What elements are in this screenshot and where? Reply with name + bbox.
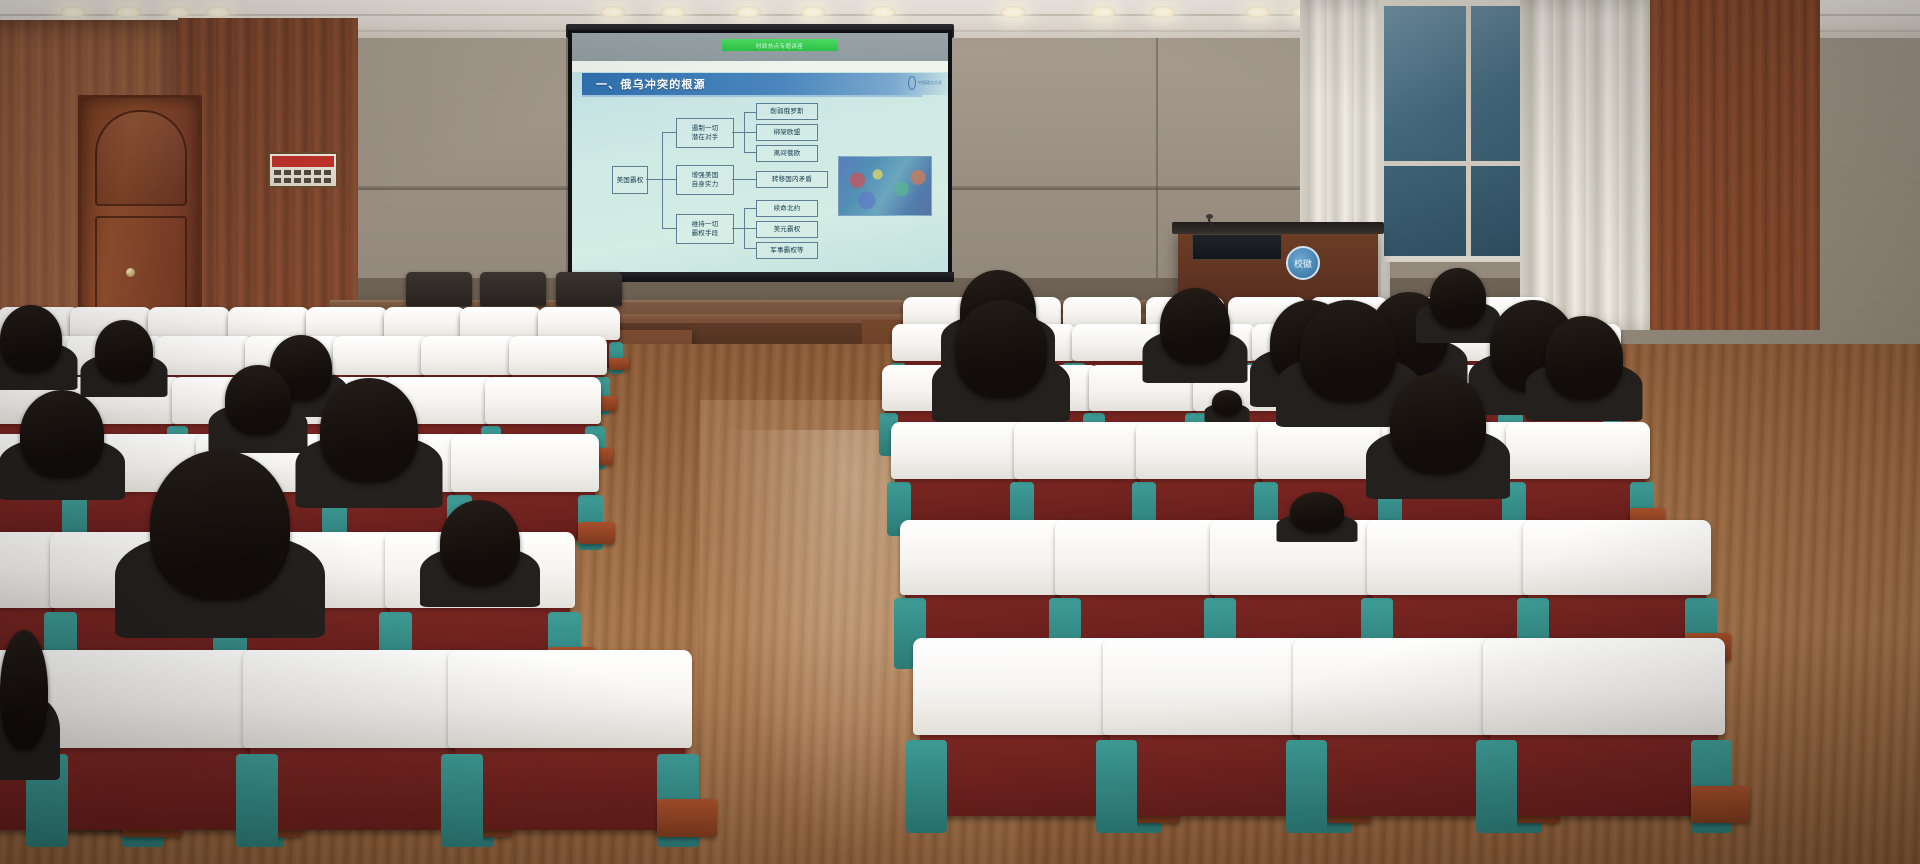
mindmap-branch-node: 遏制一切 潜在对手 — [676, 118, 734, 148]
auditorium-seat[interactable] — [1528, 528, 1706, 656]
mindmap-leaf-node: 绑架欧盟 — [756, 124, 818, 141]
slide-green-banner: 时政热点专题讲座 — [722, 39, 838, 51]
ceiling-downlight — [1000, 6, 1026, 18]
seat-side-panel — [441, 754, 482, 848]
audience-member — [1212, 390, 1242, 416]
audience-member — [1290, 492, 1344, 532]
mindmap-leaf-label: 削弱俄罗斯 — [770, 107, 804, 116]
mindmap-leaf-label: 美元霸权 — [774, 225, 801, 234]
seat-armrest — [657, 799, 717, 836]
person-head — [1290, 492, 1344, 532]
ceiling-downlight — [60, 6, 86, 18]
mindmap-root-label: 美国霸权 — [617, 176, 644, 185]
seat-side-panel — [236, 754, 277, 848]
person-head — [1160, 288, 1230, 364]
mindmap-leaf-label: 绑架欧盟 — [774, 128, 801, 137]
slide-world-map-image — [838, 156, 932, 216]
seat-white-cover — [1483, 638, 1725, 735]
audience-member — [150, 450, 290, 600]
person-head — [225, 365, 291, 435]
slide-title-bar: 一、俄乌冲突的根源 — [582, 73, 948, 95]
mindmap-branch-label-line2: 自身实力 — [692, 180, 719, 189]
seat-white-cover — [1506, 422, 1650, 479]
lectern-emblem-label: 校徽 — [1294, 257, 1312, 270]
microphone-icon — [1206, 214, 1213, 219]
ceiling-downlight — [115, 6, 141, 18]
slide-white-strip — [572, 61, 948, 72]
notice-red-header — [272, 156, 334, 167]
person-head — [955, 300, 1047, 398]
person-head — [0, 630, 48, 750]
ceiling-downlight — [870, 6, 896, 18]
ceiling-downlight — [165, 6, 191, 18]
auditorium-seat[interactable] — [455, 660, 685, 830]
ceiling-downlight — [800, 6, 826, 18]
seat-white-cover — [451, 434, 599, 492]
mindmap-leaf-node: 美元霸权 — [756, 221, 818, 238]
slide-banner-text: 时政热点专题讲座 — [756, 41, 803, 49]
person-head — [150, 450, 290, 600]
auditorium-seat[interactable] — [1490, 648, 1718, 816]
audience-member — [95, 320, 153, 382]
seat-armrest — [578, 522, 614, 544]
seat-white-cover — [33, 650, 277, 749]
ceiling-downlight — [1150, 6, 1176, 18]
audience-member — [0, 305, 62, 373]
seat-white-cover — [421, 336, 519, 375]
seat-white-cover — [448, 650, 692, 749]
mindmap-branch-label-line2: 潜在对手 — [692, 133, 719, 142]
person-head — [20, 390, 104, 478]
mindmap-branch-node: 增强美国 自身实力 — [676, 165, 734, 195]
audience-member — [0, 630, 48, 750]
mindmap-leaf-label: 转移国内矛盾 — [772, 175, 812, 184]
notice-text-lines — [274, 170, 332, 175]
mindmap-leaf-node: 削弱俄罗斯 — [756, 103, 818, 120]
mindmap-branch-label-line1: 维持一切 — [692, 220, 719, 229]
lecture-hall-photo: 时政热点专题讲座 一、俄乌冲突的根源 中国政法大学 美国霸权 — [0, 0, 1920, 864]
mindmap-root-node: 美国霸权 — [612, 166, 648, 194]
person-head — [320, 378, 418, 482]
mindmap-branch-label-line1: 遏制一切 — [692, 124, 719, 133]
mindmap-leaf-node: 离间俄欧 — [756, 145, 818, 162]
seat-white-cover — [333, 336, 431, 375]
audience-member — [1430, 268, 1486, 328]
mindmap-leaf-node: 转移国内矛盾 — [756, 171, 828, 188]
person-head — [95, 320, 153, 382]
person-head — [1300, 300, 1396, 402]
front-chair — [556, 272, 622, 306]
audience-member — [20, 390, 104, 478]
ceiling-downlight — [1090, 6, 1116, 18]
ceiling-downlight — [600, 6, 626, 18]
front-chair — [406, 272, 472, 306]
mindmap-leaf-label: 续命北约 — [774, 204, 801, 213]
seat-side-panel — [906, 740, 947, 832]
audience-member — [1390, 372, 1486, 474]
university-emblem-icon: 校徽 — [1286, 246, 1320, 280]
mindmap-leaf-label: 军事霸权等 — [770, 246, 804, 255]
person-head — [1430, 268, 1486, 328]
audience-member — [225, 365, 291, 435]
person-head — [1390, 372, 1486, 474]
ceiling-downlight — [1245, 6, 1271, 18]
slide-top-strip: 时政热点专题讲座 — [572, 33, 948, 61]
mindmap-branch-label-line1: 增强美国 — [692, 171, 719, 180]
notice-text-lines — [274, 178, 332, 183]
lectern-control-screen[interactable] — [1192, 234, 1282, 260]
seat-white-cover — [509, 336, 607, 375]
projection-screen: 时政热点专题讲座 一、俄乌冲突的根源 中国政法大学 美国霸权 — [572, 33, 948, 273]
seat-side-panel — [1096, 740, 1137, 832]
university-logo: 中国政法大学 — [908, 76, 942, 90]
door-knob[interactable] — [126, 268, 135, 277]
seat-armrest — [1691, 786, 1750, 823]
mindmap-branch-label-line2: 霸权手段 — [692, 229, 719, 238]
person-head — [1212, 390, 1242, 416]
logo-circle-icon — [908, 76, 916, 90]
auditorium-seat[interactable] — [1510, 428, 1646, 526]
curtain-right[interactable] — [1520, 0, 1650, 330]
slide-title: 一、俄乌冲突的根源 — [596, 76, 706, 92]
logo-text: 中国政法大学 — [918, 81, 942, 85]
person-head — [440, 500, 520, 586]
audience-member — [955, 300, 1047, 398]
ceiling-downlight — [205, 6, 231, 18]
audience-member — [1300, 300, 1396, 402]
audience-member — [440, 500, 520, 586]
person-head — [1545, 316, 1623, 400]
mindmap-leaf-node: 续命北约 — [756, 200, 818, 217]
seat-side-panel — [1476, 740, 1517, 832]
ceiling-downlight — [735, 6, 761, 18]
mindmap-leaf-label: 离间俄欧 — [774, 149, 801, 158]
seat-white-cover — [485, 377, 602, 423]
mindmap-leaf-node: 军事霸权等 — [756, 242, 818, 259]
door-arch-panel — [95, 110, 187, 206]
audience-member — [320, 378, 418, 482]
audience-member — [1160, 288, 1230, 364]
seat-armrest — [609, 358, 629, 371]
seat-side-panel — [1286, 740, 1327, 832]
seat-white-cover — [1523, 520, 1712, 594]
ceiling-downlight — [660, 6, 686, 18]
lectern-top-surface — [1172, 222, 1384, 234]
mindmap-branch-node: 维持一切 霸权手段 — [676, 214, 734, 244]
presentation-slide: 时政热点专题讲座 一、俄乌冲突的根源 中国政法大学 美国霸权 — [572, 33, 948, 273]
projector-screen-bottom-bar — [566, 272, 954, 282]
audience-member — [1545, 316, 1623, 400]
slide-body: 一、俄乌冲突的根源 中国政法大学 美国霸权 — [572, 72, 948, 273]
front-chair — [480, 272, 546, 306]
emergency-notice-board — [268, 152, 338, 188]
person-head — [0, 305, 62, 373]
